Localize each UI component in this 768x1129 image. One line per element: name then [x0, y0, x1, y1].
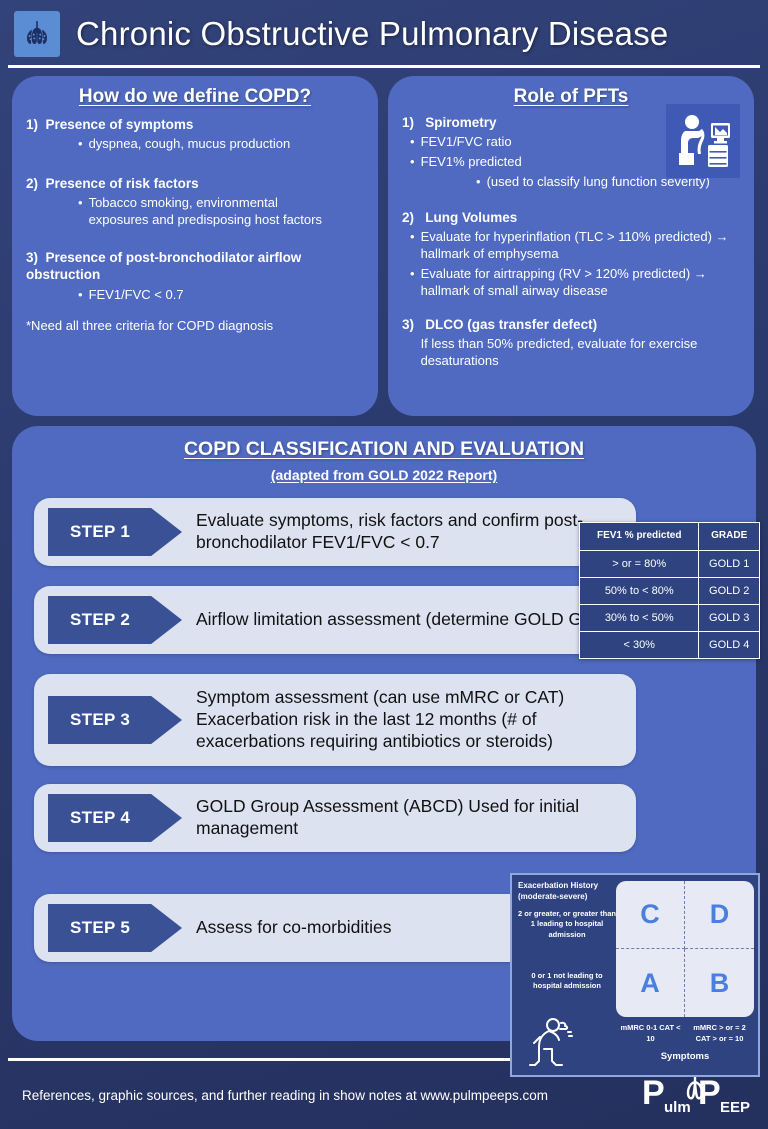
define-item-1: 1) Presence of symptoms — [26, 116, 364, 133]
step-row-1[interactable]: STEP 1 Evaluate symptoms, risk factors a… — [34, 498, 636, 566]
classification-subtitle: (adapted from GOLD 2022 Report) — [12, 467, 756, 483]
bullet-dot-icon: • — [476, 174, 481, 191]
bullet-dot-icon: • — [78, 195, 83, 229]
pft-item-2-label: Lung Volumes — [425, 210, 517, 225]
table-header-row: FEV1 % predicted GRADE — [580, 523, 760, 551]
gold-row-4-grade: GOLD 4 — [699, 631, 760, 658]
abcd-cell-c[interactable]: C — [616, 881, 685, 949]
define-item-1-number: 1) — [26, 117, 38, 132]
step-1-text: Evaluate symptoms, risk factors and conf… — [196, 510, 636, 553]
symptoms-axis-label: Symptoms — [616, 1051, 754, 1062]
bullet-dot-icon: • — [410, 154, 415, 171]
coughing-person-icon — [528, 1015, 586, 1071]
bullet-dot-icon: • — [410, 134, 415, 151]
bullet-dot-icon: • — [410, 229, 415, 263]
gold-row-4-range: < 30% — [580, 631, 699, 658]
step-4-text: GOLD Group Assessment (ABCD) Used for in… — [196, 796, 636, 839]
step-3-badge: STEP 3 — [48, 696, 182, 744]
abcd-cell-a[interactable]: A — [616, 949, 685, 1017]
pft-item-2-bullet-1: • Evaluate for hyperinflation (TLC > 110… — [410, 229, 730, 263]
define-item-1-label: Presence of symptoms — [46, 117, 194, 132]
gold-row-1-range: > or = 80% — [580, 550, 699, 577]
abcd-cell-d[interactable]: D — [685, 881, 754, 949]
pft-item-1-number: 1) — [402, 115, 414, 130]
abcd-grid: C D A B — [616, 881, 754, 1017]
pft-item-3-number: 3) — [402, 317, 414, 332]
gold-row-2-range: 50% to < 80% — [580, 577, 699, 604]
exacerbation-low-label: 0 or 1 not leading to hospital admission — [518, 971, 616, 992]
header-divider — [8, 65, 760, 68]
gold-row-3-range: 30% to < 50% — [580, 604, 699, 631]
define-item-2: 2) Presence of risk factors — [26, 175, 364, 192]
gold-table-header-grade: GRADE — [699, 523, 760, 551]
step-5-badge: STEP 5 — [48, 904, 182, 952]
gold-row-3-grade: GOLD 3 — [699, 604, 760, 631]
gold-row-2-grade: GOLD 2 — [699, 577, 760, 604]
lungs-icon — [14, 11, 60, 57]
page-title: Chronic Obstructive Pulmonary Disease — [76, 15, 668, 53]
define-panel-title: How do we define COPD? — [26, 86, 364, 108]
pulm-peeps-logo: P ulm P EEPs — [642, 1071, 750, 1119]
svg-text:P: P — [642, 1074, 665, 1112]
step-1-badge: STEP 1 — [48, 508, 182, 556]
define-item-3-bullet: • FEV1/FVC < 0.7 — [78, 287, 364, 304]
svg-text:EEPs: EEPs — [720, 1099, 750, 1116]
svg-text:ulm: ulm — [664, 1099, 691, 1116]
step-2-badge: STEP 2 — [48, 596, 182, 644]
classification-title: COPD CLASSIFICATION AND EVALUATION — [12, 438, 756, 461]
define-item-1-bullet: • dyspnea, cough, mucus production — [78, 136, 364, 153]
step-row-3[interactable]: STEP 3 Symptom assessment (can use mMRC … — [34, 674, 636, 766]
define-item-3-label: Presence of post-bronchodilator airflow … — [26, 250, 301, 282]
table-row: < 30% GOLD 4 — [580, 631, 760, 658]
page-header: Chronic Obstructive Pulmonary Disease — [0, 0, 768, 68]
pft-item-2-number: 2) — [402, 210, 414, 225]
define-panel-note: *Need all three criteria for COPD diagno… — [26, 318, 364, 333]
exacerbation-history-title: Exacerbation History (moderate-severe) — [518, 881, 614, 903]
symptom-thresholds: mMRC 0-1 CAT < 10 mMRC > or = 2 CAT > or… — [616, 1023, 754, 1045]
gold-row-1-grade: GOLD 1 — [699, 550, 760, 577]
symptom-threshold-right: mMRC > or = 2 CAT > or = 10 — [685, 1023, 754, 1045]
infographic-page: Chronic Obstructive Pulmonary Disease Ho… — [0, 0, 768, 1129]
define-item-2-number: 2) — [26, 176, 38, 191]
define-item-3: 3) Presence of post-bronchodilator airfl… — [26, 249, 326, 284]
table-row: > or = 80% GOLD 1 — [580, 550, 760, 577]
bullet-dot-icon: • — [78, 136, 83, 153]
pft-item-3: 3) DLCO (gas transfer defect) — [402, 316, 740, 333]
step-3-text: Symptom assessment (can use mMRC or CAT)… — [196, 687, 636, 752]
abcd-assessment-panel: Exacerbation History (moderate-severe) 2… — [510, 873, 760, 1077]
define-item-2-bullet: • Tobacco smoking, environmental exposur… — [78, 195, 328, 229]
define-item-2-label: Presence of risk factors — [46, 176, 199, 191]
step-row-2[interactable]: STEP 2 Airflow limitation assessment (de… — [34, 586, 636, 654]
top-panels: How do we define COPD? 1) Presence of sy… — [0, 68, 768, 416]
pft-item-2: 2) Lung Volumes — [402, 209, 740, 226]
bullet-dot-icon: • — [78, 287, 83, 304]
step-row-4[interactable]: STEP 4 GOLD Group Assessment (ABCD) Used… — [34, 784, 636, 852]
spirometry-icon — [666, 104, 740, 178]
table-row: 50% to < 80% GOLD 2 — [580, 577, 760, 604]
define-item-3-number: 3) — [26, 250, 38, 265]
footer-text: References, graphic sources, and further… — [22, 1088, 548, 1103]
gold-table-header-fev1: FEV1 % predicted — [580, 523, 699, 551]
pft-panel: Role of PFTs — [388, 76, 754, 416]
classification-panel: COPD CLASSIFICATION AND EVALUATION (adap… — [12, 426, 756, 1041]
gold-grade-table: FEV1 % predicted GRADE > or = 80% GOLD 1… — [579, 522, 760, 659]
pft-item-1-label: Spirometry — [425, 115, 496, 130]
abcd-cell-b[interactable]: B — [685, 949, 754, 1017]
symptom-threshold-left: mMRC 0-1 CAT < 10 — [616, 1023, 685, 1045]
step-4-badge: STEP 4 — [48, 794, 182, 842]
pft-item-3-bullet: • If less than 50% predicted, evaluate f… — [410, 336, 740, 370]
pft-item-2-bullet-2: • Evaluate for airtrapping (RV > 120% pr… — [410, 266, 740, 300]
pft-item-3-label: DLCO (gas transfer defect) — [425, 317, 597, 332]
table-row: 30% to < 50% GOLD 3 — [580, 604, 760, 631]
bullet-dot-icon: • — [410, 266, 415, 300]
exacerbation-high-label: 2 or greater, or greater than 1 leading … — [518, 909, 616, 940]
step-2-text: Airflow limitation assessment (determine… — [196, 609, 633, 631]
step-5-text: Assess for co-morbidities — [196, 917, 401, 939]
define-copd-panel: How do we define COPD? 1) Presence of sy… — [12, 76, 378, 416]
